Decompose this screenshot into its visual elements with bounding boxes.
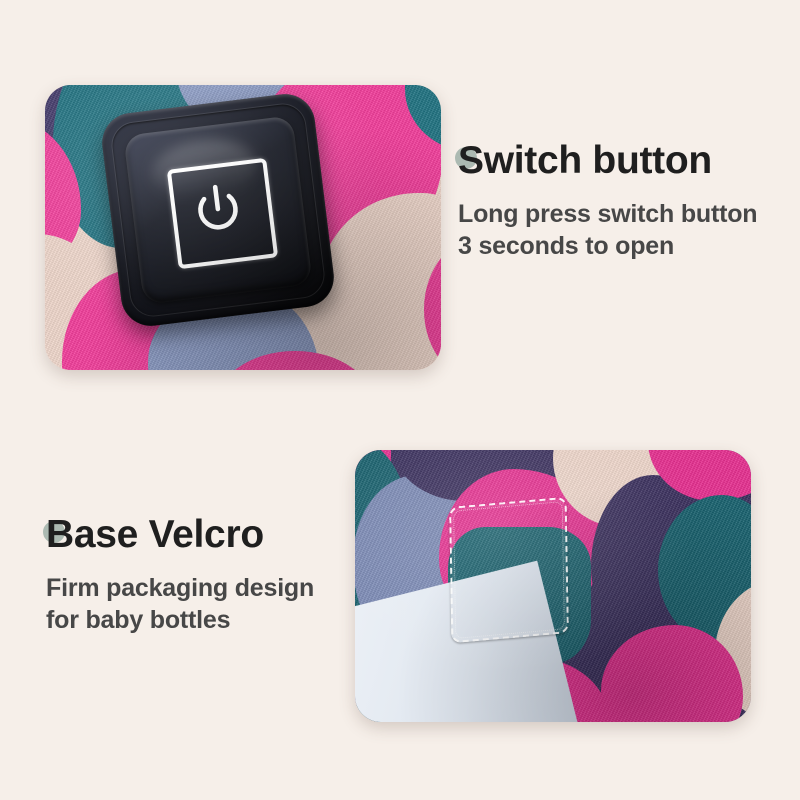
velcro-stitching <box>449 497 569 644</box>
description-line: for baby bottles <box>46 604 376 636</box>
switch-cap[interactable] <box>123 115 312 304</box>
heading-row-velcro: Base Velcro <box>46 512 376 558</box>
velcro-patch <box>449 497 569 644</box>
product-base-velcro-photo <box>355 450 751 722</box>
photo-inner-switch <box>45 85 441 370</box>
heading-row-switch: Switch button <box>458 138 794 184</box>
feature-text-switch-button: Switch button Long press switch button 3… <box>458 138 794 262</box>
photo-inner-velcro <box>355 450 751 722</box>
product-switch-button-photo <box>45 85 441 370</box>
description-line: Firm packaging design <box>46 572 376 604</box>
feature-text-base-velcro: Base Velcro Firm packaging design for ba… <box>46 512 376 636</box>
power-switch-button[interactable] <box>99 91 337 329</box>
infographic-page: Switch button Long press switch button 3… <box>0 0 800 800</box>
feature-description-velcro: Firm packaging design for baby bottles <box>46 572 376 636</box>
description-line: Long press switch button <box>458 198 794 230</box>
feature-description-switch: Long press switch button 3 seconds to op… <box>458 198 794 262</box>
power-icon <box>185 177 252 244</box>
feature-heading-velcro: Base Velcro <box>46 512 376 558</box>
description-line: 3 seconds to open <box>458 230 794 262</box>
feature-heading-switch: Switch button <box>458 138 794 184</box>
